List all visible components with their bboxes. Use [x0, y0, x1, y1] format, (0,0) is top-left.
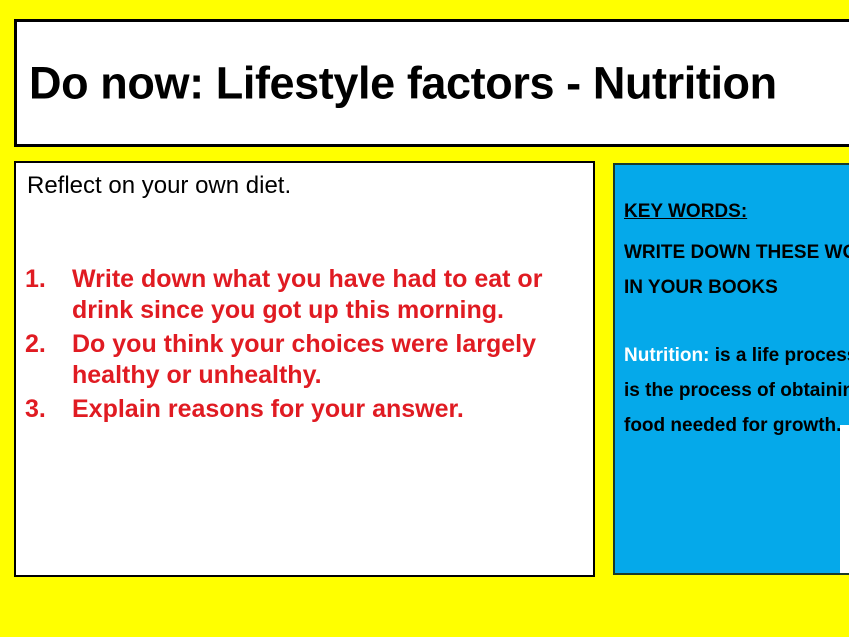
slide-canvas: Do now: Lifestyle factors - Nutrition Re… — [0, 0, 849, 637]
list-item-number: 2. — [25, 329, 72, 360]
list-item: 1. Write down what you have had to eat o… — [25, 264, 587, 325]
list-item-label: Write down what you have had to eat or d… — [72, 264, 587, 325]
title-banner: Do now: Lifestyle factors - Nutrition — [14, 19, 849, 147]
task-intro-text: Reflect on your own diet. — [27, 171, 291, 201]
list-item-number: 3. — [25, 394, 72, 425]
keywords-instruction: WRITE DOWN THESE WORDS IN YOUR BOOKS — [624, 235, 849, 305]
list-item-label: Do you think your choices were largely h… — [72, 329, 587, 390]
list-item: 3. Explain reasons for your answer. — [25, 394, 587, 425]
list-item-number: 1. — [25, 264, 72, 295]
list-item: 2. Do you think your choices were largel… — [25, 329, 587, 390]
edge-card-partial — [840, 425, 849, 573]
keywords-heading: KEY WORDS: — [624, 200, 747, 224]
keyword-definition: Nutrition: is a life process and is the … — [624, 338, 849, 443]
keyword-term: Nutrition: — [624, 345, 709, 366]
task-panel: Reflect on your own diet. 1. Write down … — [14, 161, 595, 577]
page-title: Do now: Lifestyle factors - Nutrition — [29, 59, 777, 106]
task-list: 1. Write down what you have had to eat o… — [25, 264, 587, 429]
keywords-panel: KEY WORDS: WRITE DOWN THESE WORDS IN YOU… — [613, 163, 849, 575]
list-item-label: Explain reasons for your answer. — [72, 394, 587, 425]
